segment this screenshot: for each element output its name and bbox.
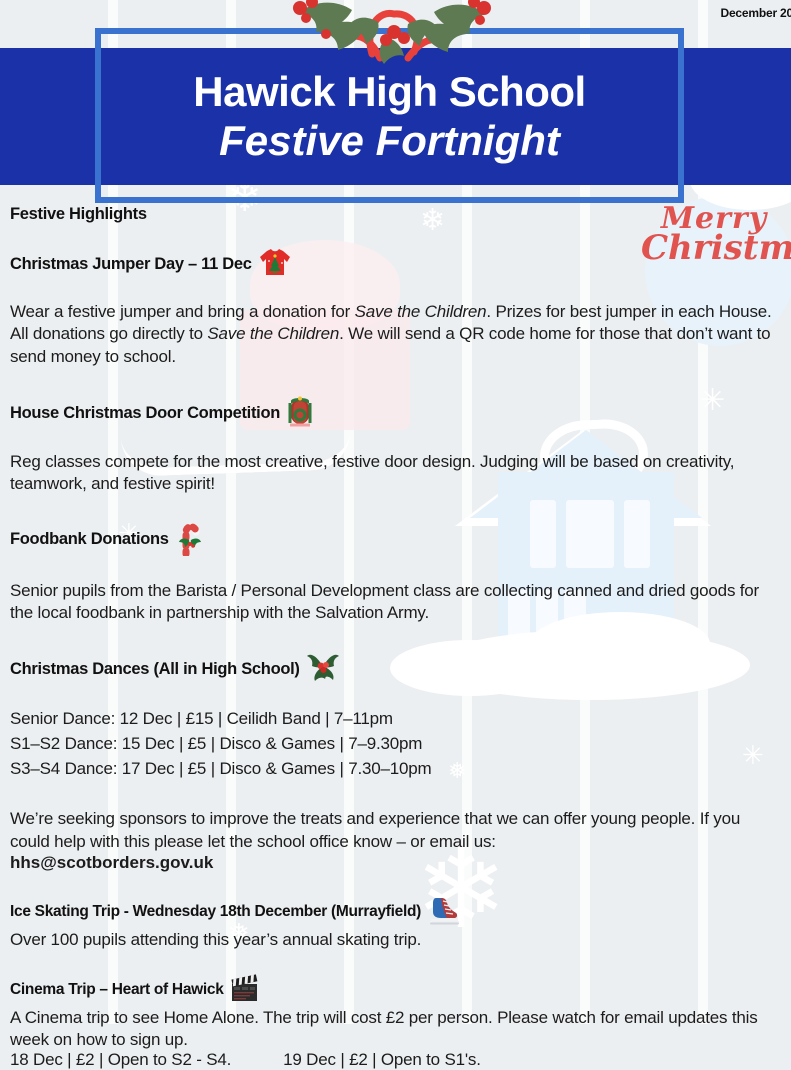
- christmas-dances-label: Christmas Dances (All in High School): [10, 660, 300, 680]
- christmas-door-icon: [286, 395, 314, 433]
- section-heading-cinema-trip: Cinema Trip – Heart of Hawick: [10, 973, 781, 1007]
- dance-line: S3–S4 Dance: 17 Dec | £5 | Disco & Games…: [10, 757, 781, 782]
- contact-email[interactable]: hhs@scotborders.gov.uk: [10, 853, 781, 873]
- candy-cane-icon: [175, 518, 205, 562]
- dance-list: Senior Dance: 12 Dec | £15 | Ceilidh Ban…: [10, 707, 781, 782]
- sponsorship-text: We’re seeking sponsors to improve the tr…: [10, 808, 781, 853]
- issue-date: December 20: [720, 6, 791, 20]
- christmas-jumper-icon: [258, 247, 292, 283]
- ice-skate-icon: [427, 895, 461, 929]
- cinema-trip-options: 18 Dec | £2 | Open to S2 - S4.19 Dec | £…: [10, 1050, 781, 1070]
- section-heading-foodbank-donations: Foodbank Donations: [10, 518, 781, 562]
- holly-swag-icon: [268, 0, 518, 68]
- ice-skating-trip-label: Ice Skating Trip - Wednesday 18th Decemb…: [10, 903, 421, 922]
- dance-line: S1–S2 Dance: 15 Dec | £5 | Disco & Games…: [10, 732, 781, 757]
- body-part-italic: Save the Children: [207, 324, 339, 343]
- christmas-jumper-day-body: Wear a festive jumper and bring a donati…: [10, 301, 781, 369]
- holly-icon: [306, 651, 340, 689]
- section-heading-christmas-dances: Christmas Dances (All in High School): [10, 651, 781, 689]
- ice-skating-trip-body: Over 100 pupils attending this year’s an…: [10, 929, 781, 951]
- body-part: Wear a festive jumper and bring a donati…: [10, 302, 355, 321]
- section-heading-ice-skating-trip: Ice Skating Trip - Wednesday 18th Decemb…: [10, 895, 781, 929]
- cinema-option-1: 18 Dec | £2 | Open to S2 - S4.: [10, 1050, 231, 1069]
- header-title-block: Hawick High School Festive Fortnight: [95, 48, 684, 185]
- section-heading-house-door-competition: House Christmas Door Competition: [10, 395, 781, 433]
- merry-christmas-line2: Christmas: [641, 232, 787, 264]
- cinema-trip-body: A Cinema trip to see Home Alone. The tri…: [10, 1007, 781, 1051]
- foodbank-donations-label: Foodbank Donations: [10, 530, 169, 550]
- clapperboard-icon: [230, 973, 260, 1007]
- page-subtitle: Festive Fortnight: [219, 117, 560, 164]
- christmas-jumper-day-label: Christmas Jumper Day – 11 Dec: [10, 255, 252, 275]
- house-door-competition-label: House Christmas Door Competition: [10, 404, 280, 424]
- body-part-italic: Save the Children: [355, 302, 487, 321]
- foodbank-donations-body: Senior pupils from the Barista / Persona…: [10, 580, 781, 625]
- cinema-trip-label: Cinema Trip – Heart of Hawick: [10, 981, 224, 1000]
- dance-line: Senior Dance: 12 Dec | £15 | Ceilidh Ban…: [10, 707, 781, 732]
- cinema-option-2: 19 Dec | £2 | Open to S1's.: [283, 1050, 481, 1069]
- newsletter-content: Festive Highlights Christmas Jumper Day …: [0, 205, 791, 1070]
- house-door-competition-body: Reg classes compete for the most creativ…: [10, 451, 781, 496]
- page-title: Hawick High School: [193, 69, 585, 114]
- merry-christmas-graphic: Merry Christmas: [641, 205, 787, 305]
